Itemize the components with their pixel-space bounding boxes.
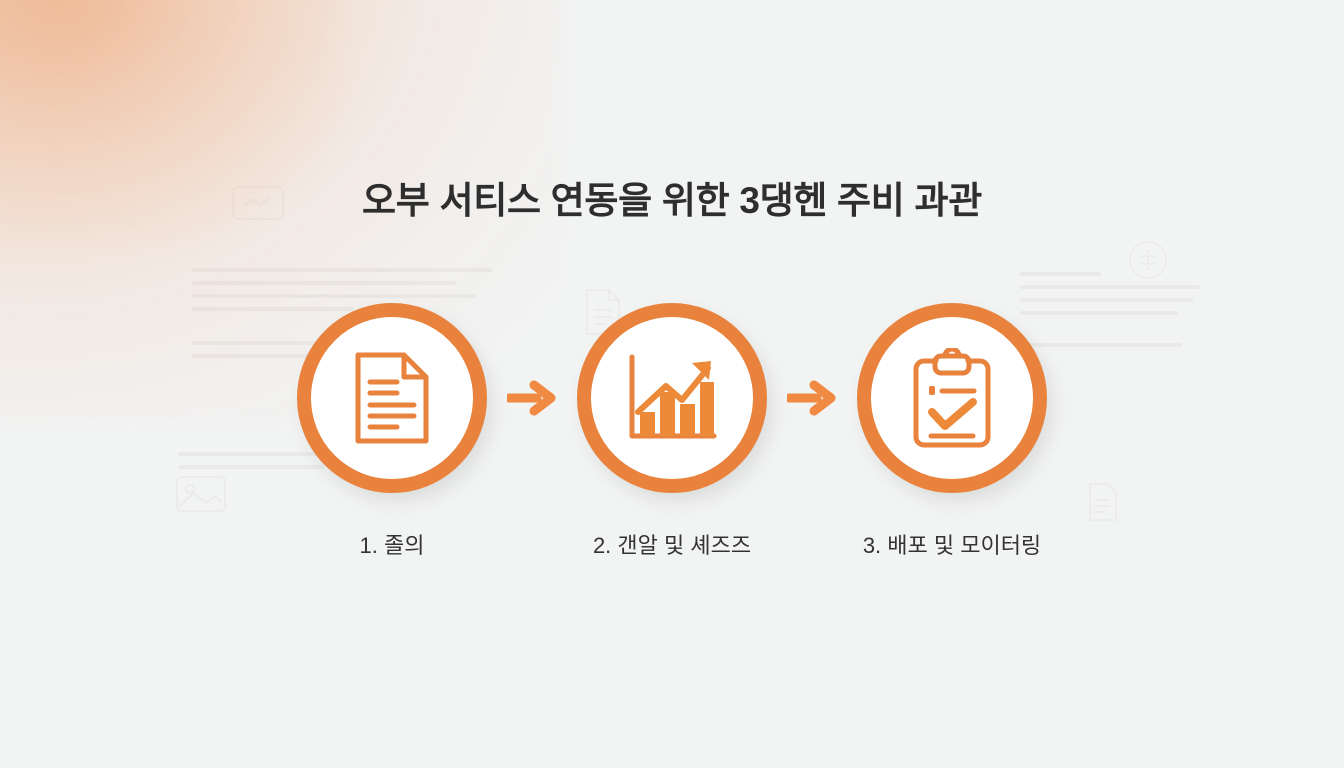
step-3-label: 3. 배포 및 모이터링 — [863, 528, 1041, 560]
arrow-right-icon — [787, 380, 837, 416]
document-icon — [354, 351, 430, 445]
flow-connector-2 — [767, 303, 857, 493]
step-1-circle[interactable] — [297, 303, 487, 493]
step-3-circle[interactable] — [857, 303, 1047, 493]
flow-connector-1 — [487, 303, 577, 493]
step-2-circle[interactable] — [577, 303, 767, 493]
watermark-badge-icon — [1128, 240, 1168, 280]
arrow-right-icon — [507, 380, 557, 416]
step-1-label: 1. 졸의 — [360, 528, 425, 560]
clipboard-check-icon — [911, 348, 993, 448]
step-2-label: 2. 갠알 및 셰즈즈 — [593, 528, 751, 560]
process-flow: 1. 졸의 — [0, 303, 1344, 560]
bar-chart-growth-icon — [626, 354, 718, 442]
page-title: 오부 서티스 연동을 위한 3댕헨 주비 과관 — [0, 170, 1344, 224]
flow-step-1[interactable]: 1. 졸의 — [297, 303, 487, 560]
flow-step-3[interactable]: 3. 배포 및 모이터링 — [857, 303, 1047, 560]
flow-step-2[interactable]: 2. 갠알 및 셰즈즈 — [577, 303, 767, 560]
slide-canvas: 오부 서티스 연동을 위한 3댕헨 주비 과관 1. 졸의 — [0, 0, 1344, 768]
